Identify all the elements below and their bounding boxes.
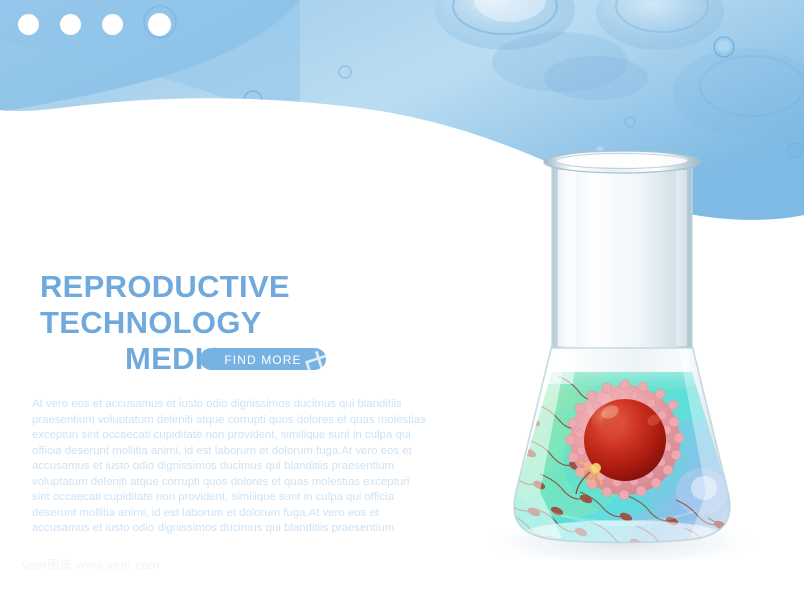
water-dot (148, 13, 171, 36)
water-dot (18, 14, 39, 35)
find-more-button[interactable]: FIND MORE (200, 348, 326, 370)
body-paragraph: At vero eos et accusamus et iusto odio d… (32, 397, 428, 537)
page-title-line1: REPRODUCTIVE TECHNOLOGY (40, 269, 290, 340)
poster-canvas: REPRODUCTIVE TECHNOLOGY MEDICINE FIND MO… (0, 0, 804, 590)
flask-illustration (440, 140, 804, 560)
bottom-watermark: veer图库 www.veer.com (22, 556, 160, 573)
water-dot (60, 14, 81, 35)
water-dot (102, 14, 123, 35)
